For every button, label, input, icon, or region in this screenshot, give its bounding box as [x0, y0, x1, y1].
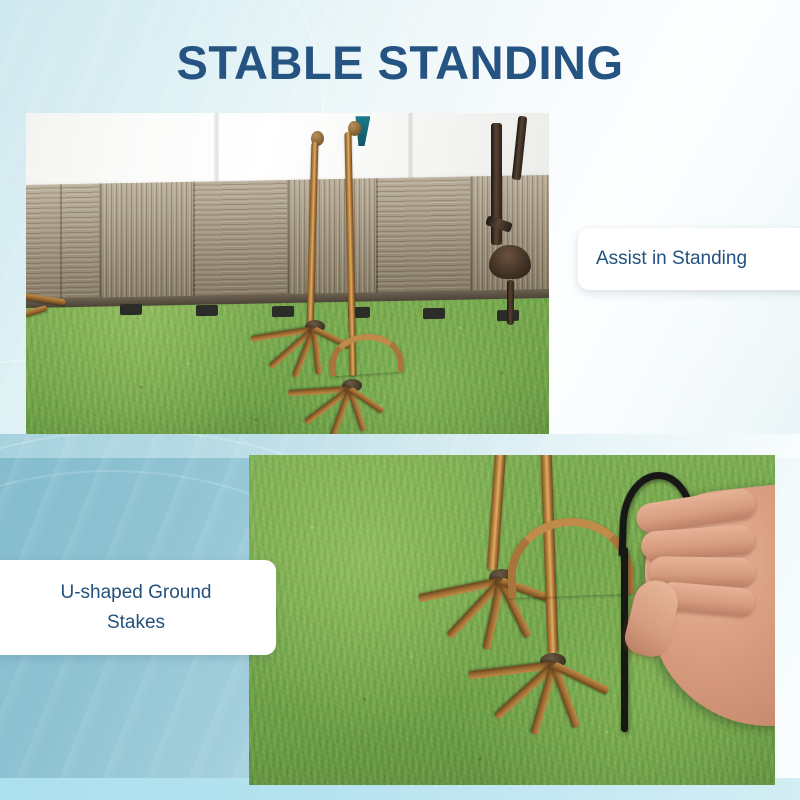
umbrella-stand-stem [507, 280, 514, 325]
photo-stakes-beside-decking [26, 113, 549, 434]
deck-tiles [26, 175, 549, 301]
deck-support-foot [272, 306, 294, 317]
deck-support-foot [120, 304, 142, 315]
deck-support-foot [423, 308, 445, 319]
page-title: STABLE STANDING [0, 34, 800, 92]
product-feature-poster: STABLE STANDING [0, 0, 800, 800]
callout-u-stakes-line2: Stakes [60, 608, 211, 638]
umbrella-stand-base [489, 245, 531, 279]
deck-support-foot [196, 305, 218, 316]
callout-assist-in-standing: Assist in Standing [578, 228, 800, 290]
photo-hand-with-u-stake [249, 455, 775, 785]
callout-u-shaped-ground-stakes: U-shaped Ground Stakes [0, 560, 276, 655]
callout-u-stakes-line1: U-shaped Ground [60, 578, 211, 608]
callout-assist-in-standing-label: Assist in Standing [596, 246, 747, 272]
